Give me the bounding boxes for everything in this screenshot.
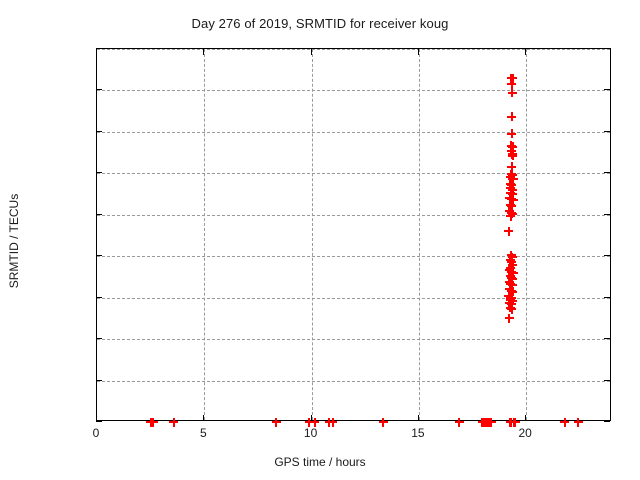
data-point xyxy=(506,180,515,189)
data-point xyxy=(507,305,516,314)
data-point xyxy=(505,277,514,286)
data-point xyxy=(507,79,516,88)
y-axis-label: SRMTID / TECUs xyxy=(7,141,21,341)
x-tick-mark xyxy=(311,415,312,421)
data-point xyxy=(480,418,489,427)
data-point xyxy=(506,272,515,281)
data-point xyxy=(507,129,516,138)
y-tick-mark xyxy=(604,421,610,422)
data-point xyxy=(506,212,515,221)
y-tick-mark xyxy=(604,172,610,173)
data-point xyxy=(505,285,514,294)
data-point xyxy=(508,142,517,151)
data-point xyxy=(574,418,583,427)
x-tick-mark xyxy=(418,49,419,55)
data-point xyxy=(505,266,514,275)
data-point xyxy=(507,258,516,267)
data-point xyxy=(483,418,492,427)
data-point xyxy=(325,418,334,427)
data-point xyxy=(508,287,517,296)
data-point xyxy=(479,418,488,427)
x-tick-label: 0 xyxy=(93,426,100,440)
data-point xyxy=(507,294,516,303)
data-point xyxy=(507,287,516,296)
gridline-vertical xyxy=(419,49,420,420)
data-point xyxy=(507,180,516,189)
data-point xyxy=(508,274,517,283)
x-tick-label: 15 xyxy=(411,426,424,440)
y-tick-mark xyxy=(604,89,610,90)
data-point xyxy=(506,303,515,312)
data-point xyxy=(507,267,516,276)
y-tick-mark xyxy=(96,338,102,339)
data-point xyxy=(507,74,516,83)
data-point xyxy=(508,253,517,262)
data-point xyxy=(506,173,515,182)
data-point xyxy=(509,195,518,204)
data-point xyxy=(508,209,517,218)
data-point xyxy=(149,418,158,427)
data-point xyxy=(507,273,516,282)
y-tick-mark xyxy=(96,131,102,132)
gridline-vertical xyxy=(312,49,313,420)
gridline-horizontal xyxy=(97,339,610,340)
y-tick-mark xyxy=(96,172,102,173)
data-point xyxy=(508,88,517,97)
data-point xyxy=(506,189,515,198)
data-point xyxy=(506,296,515,305)
data-point xyxy=(505,298,514,307)
x-tick-mark xyxy=(203,49,204,55)
data-point xyxy=(507,170,516,179)
y-tick-mark xyxy=(96,421,102,422)
data-point xyxy=(508,281,517,290)
data-point xyxy=(507,141,516,150)
y-tick-mark xyxy=(604,131,610,132)
data-point xyxy=(482,418,491,427)
data-point xyxy=(169,418,178,427)
chart-screenshot: Day 276 of 2019, SRMTID for receiver kou… xyxy=(0,0,640,480)
gridline-horizontal xyxy=(97,132,610,133)
y-tick-mark xyxy=(604,48,610,49)
x-tick-label: 5 xyxy=(200,426,207,440)
data-point xyxy=(509,268,518,277)
data-point xyxy=(455,418,464,427)
data-point xyxy=(507,146,516,155)
gridline-horizontal xyxy=(97,49,610,50)
data-point xyxy=(507,202,516,211)
data-point xyxy=(560,418,569,427)
gridline-vertical xyxy=(526,49,527,420)
gridline-horizontal xyxy=(97,90,610,91)
data-point xyxy=(507,162,516,171)
y-tick-mark xyxy=(96,255,102,256)
y-tick-mark xyxy=(604,338,610,339)
y-tick-mark xyxy=(604,214,610,215)
data-point xyxy=(508,74,517,83)
data-point xyxy=(507,195,516,204)
y-tick-mark xyxy=(96,380,102,381)
data-point xyxy=(506,263,515,272)
y-tick-mark xyxy=(96,214,102,215)
data-point xyxy=(508,175,517,184)
y-tick-mark xyxy=(604,255,610,256)
data-point xyxy=(506,279,515,288)
x-tick-mark xyxy=(96,49,97,55)
data-point xyxy=(272,418,281,427)
data-point xyxy=(505,314,514,323)
y-tick-mark xyxy=(604,297,610,298)
x-tick-mark xyxy=(311,49,312,55)
x-tick-label: 20 xyxy=(518,426,531,440)
data-point xyxy=(504,292,513,301)
data-point xyxy=(508,190,517,199)
data-point xyxy=(508,170,517,179)
data-point xyxy=(508,185,517,194)
x-tick-mark xyxy=(418,415,419,421)
data-point xyxy=(507,209,516,218)
y-tick-mark xyxy=(604,380,610,381)
chart-title: Day 276 of 2019, SRMTID for receiver kou… xyxy=(0,16,640,31)
data-point xyxy=(504,227,513,236)
data-point xyxy=(484,418,493,427)
data-point xyxy=(507,300,516,309)
data-point xyxy=(506,418,515,427)
x-tick-mark xyxy=(525,49,526,55)
data-point xyxy=(506,255,515,264)
data-point xyxy=(507,251,516,260)
data-point xyxy=(478,418,487,427)
gridline-horizontal xyxy=(97,381,610,382)
data-point xyxy=(506,200,515,209)
gridline-horizontal xyxy=(97,173,610,174)
data-point xyxy=(508,260,517,269)
data-point xyxy=(487,418,496,427)
gridline-vertical xyxy=(204,49,205,420)
y-tick-mark xyxy=(96,297,102,298)
data-point xyxy=(508,151,517,160)
data-point xyxy=(508,150,517,159)
data-point xyxy=(505,194,514,203)
data-point xyxy=(379,418,388,427)
x-tick-mark xyxy=(525,415,526,421)
data-point xyxy=(508,296,517,305)
gridline-horizontal xyxy=(97,256,610,257)
gridline-horizontal xyxy=(97,298,610,299)
data-point xyxy=(506,293,515,302)
x-tick-label: 10 xyxy=(304,426,317,440)
x-tick-mark xyxy=(96,415,97,421)
data-point xyxy=(507,112,516,121)
data-point xyxy=(509,175,518,184)
data-point xyxy=(509,418,518,427)
data-point xyxy=(506,184,515,193)
plot-area xyxy=(96,48,611,421)
x-tick-mark xyxy=(203,415,204,421)
gridline-horizontal xyxy=(97,215,610,216)
x-axis-label: GPS time / hours xyxy=(0,455,640,469)
data-point xyxy=(505,206,514,215)
data-point xyxy=(328,418,337,427)
data-point xyxy=(507,418,516,427)
data-point xyxy=(146,418,155,427)
data-point xyxy=(486,418,495,427)
y-tick-mark xyxy=(96,89,102,90)
